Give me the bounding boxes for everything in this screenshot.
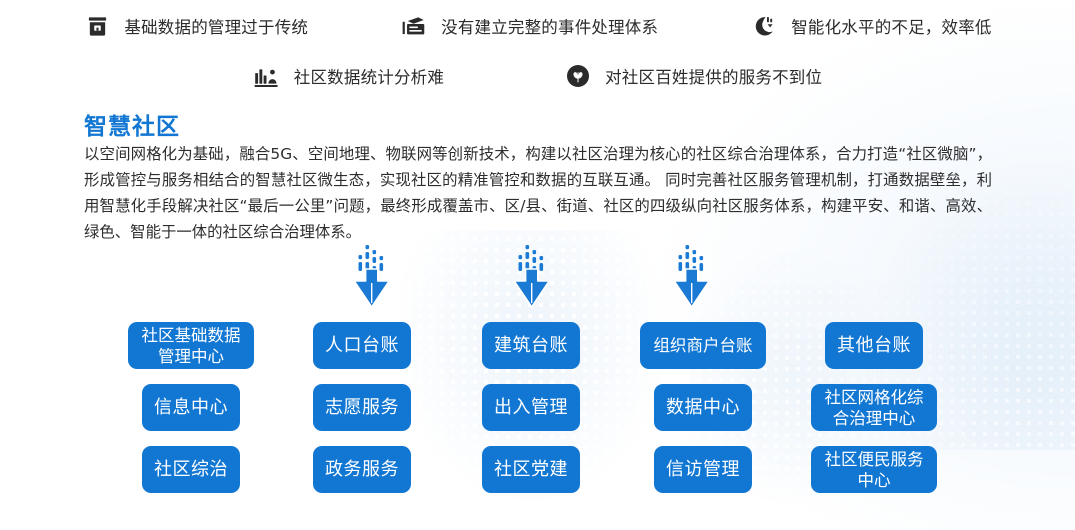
module-column-2: 人口台账 志愿服务 政务服务 bbox=[299, 322, 425, 493]
module-column-1: 社区基础数据管理中心 信息中心 社区综治 bbox=[128, 322, 254, 493]
pain-point-item: 基础数据的管理过于传统 bbox=[83, 12, 308, 40]
pain-point-item: 对社区百姓提供的服务不到位 bbox=[564, 62, 822, 90]
down-arrow-icon-3 bbox=[661, 243, 723, 315]
pain-point-item: 没有建立完整的事件处理体系 bbox=[400, 12, 658, 40]
smart-power-icon bbox=[750, 12, 778, 40]
document-stack-icon bbox=[400, 12, 428, 40]
pain-point-label: 基础数据的管理过于传统 bbox=[124, 14, 308, 38]
module-card[interactable]: 社区网格化综合治理中心 bbox=[811, 384, 937, 431]
section-title: 智慧社区 bbox=[84, 107, 180, 141]
pain-point-item: 社区数据统计分析难 bbox=[253, 62, 444, 90]
module-card[interactable]: 数据中心 bbox=[654, 384, 752, 431]
pain-point-row-2: 社区数据统计分析难 对社区百姓提供的服务不到位 bbox=[0, 62, 1075, 90]
module-card[interactable]: 建筑台账 bbox=[482, 322, 580, 369]
down-arrow-icon-2 bbox=[501, 243, 563, 315]
arrow-row bbox=[0, 243, 1075, 315]
module-column-3: 建筑台账 出入管理 社区党建 bbox=[468, 322, 594, 493]
module-card[interactable]: 其他台账 bbox=[825, 322, 923, 369]
module-card[interactable]: 志愿服务 bbox=[313, 384, 411, 431]
module-card[interactable]: 社区党建 bbox=[482, 446, 580, 493]
pain-point-row-1: 基础数据的管理过于传统 没有建立完整的事件处理体系 bbox=[0, 12, 1075, 40]
bar-chart-person-icon bbox=[253, 62, 281, 90]
pain-point-item: 智能化水平的不足，效率低 bbox=[750, 12, 991, 40]
module-card-grid: 社区基础数据管理中心 信息中心 社区综治 人口台账 志愿服务 政务服务 建筑台账… bbox=[0, 322, 1075, 530]
pain-point-label: 对社区百姓提供的服务不到位 bbox=[605, 64, 822, 88]
module-card[interactable]: 政务服务 bbox=[313, 446, 411, 493]
slide-page: 基础数据的管理过于传统 没有建立完整的事件处理体系 bbox=[0, 0, 1075, 530]
pain-point-label: 没有建立完整的事件处理体系 bbox=[441, 14, 658, 38]
module-card[interactable]: 信访管理 bbox=[654, 446, 752, 493]
pain-point-label: 智能化水平的不足，效率低 bbox=[791, 14, 991, 38]
module-card[interactable]: 社区基础数据管理中心 bbox=[128, 322, 254, 369]
pain-point-label: 社区数据统计分析难 bbox=[294, 64, 444, 88]
module-card[interactable]: 信息中心 bbox=[142, 384, 240, 431]
module-column-4: 组织商户台账 数据中心 信访管理 bbox=[640, 322, 766, 493]
module-card[interactable]: 出入管理 bbox=[482, 384, 580, 431]
down-arrow-icon-1 bbox=[341, 243, 403, 315]
module-column-5: 其他台账 社区网格化综合治理中心 社区便民服务中心 bbox=[811, 322, 937, 493]
module-card[interactable]: 人口台账 bbox=[313, 322, 411, 369]
module-card[interactable]: 社区综治 bbox=[142, 446, 240, 493]
module-card[interactable]: 社区便民服务中心 bbox=[811, 446, 937, 493]
heart-badge-icon bbox=[564, 62, 592, 90]
archive-box-icon bbox=[83, 12, 111, 40]
module-card[interactable]: 组织商户台账 bbox=[640, 322, 766, 369]
section-body-paragraph: 以空间网格化为基础，融合5G、空间地理、物联网等创新技术，构建以社区治理为核心的… bbox=[84, 141, 992, 245]
